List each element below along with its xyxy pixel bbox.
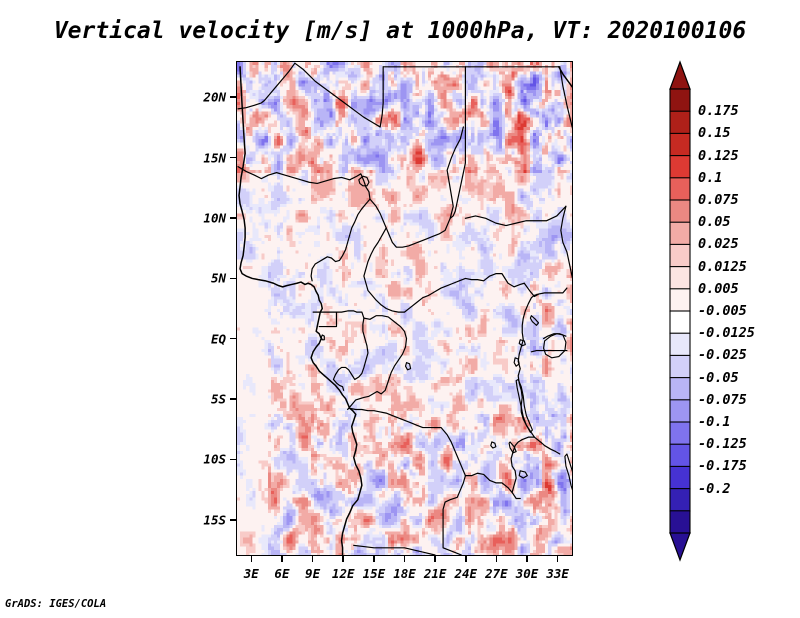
- x-axis-label: 24E: [454, 566, 477, 581]
- x-axis-label: 15E: [363, 566, 386, 581]
- colorbar-tick-label: -0.0125: [698, 325, 755, 341]
- x-axis-label: 21E: [424, 566, 447, 581]
- x-axis-label: 3E: [244, 566, 259, 581]
- x-axis-label: 27E: [485, 566, 508, 581]
- x-tick-mark: [526, 556, 528, 562]
- colorbar-tick-label: -0.05: [698, 370, 739, 386]
- colorbar-band: [670, 89, 690, 112]
- y-tick-mark: [230, 157, 236, 159]
- x-tick-mark: [312, 556, 314, 562]
- x-axis-label: 9E: [305, 566, 320, 581]
- colorbar-band: [670, 133, 690, 156]
- x-tick-mark: [557, 556, 559, 562]
- page-title: Vertical velocity [m/s] at 1000hPa, VT: …: [0, 18, 800, 44]
- colorbar-tick-label: -0.125: [698, 436, 747, 452]
- x-tick-mark: [465, 556, 467, 562]
- vertical-velocity-field: [237, 62, 572, 555]
- y-tick-mark: [230, 96, 236, 98]
- x-axis-label: 18E: [393, 566, 416, 581]
- colorbar-band: [670, 422, 690, 445]
- colorbar-tick-label: 0.005: [698, 281, 739, 297]
- colorbar-band: [670, 289, 690, 312]
- colorbar-tick-label: -0.2: [698, 481, 731, 497]
- colorbar-tick-label: 0.0125: [698, 259, 747, 275]
- y-axis-label: 10S: [172, 452, 226, 467]
- colorbar-band: [670, 111, 690, 134]
- colorbar-band: [670, 489, 690, 512]
- x-tick-mark: [281, 556, 283, 562]
- colorbar-bottom-arrow: [670, 533, 690, 560]
- colorbar-band: [670, 178, 690, 201]
- colorbar-band: [670, 311, 690, 334]
- colorbar-tick-label: -0.005: [698, 303, 747, 319]
- colorbar-tick-label: 0.125: [698, 148, 739, 164]
- x-tick-mark: [434, 556, 436, 562]
- x-tick-mark: [404, 556, 406, 562]
- colorbar-tick-label: 0.15: [698, 125, 731, 141]
- y-tick-mark: [230, 338, 236, 340]
- map-svg: [237, 62, 572, 555]
- y-axis-label: 15S: [172, 512, 226, 527]
- colorbar-tick-label: -0.1: [698, 414, 731, 430]
- colorbar-tick-label: -0.175: [698, 458, 747, 474]
- y-tick-mark: [230, 217, 236, 219]
- colorbar-tick-label: 0.175: [698, 103, 739, 119]
- y-tick-mark: [230, 519, 236, 521]
- colorbar-band: [670, 267, 690, 290]
- x-axis-label: 12E: [332, 566, 355, 581]
- y-axis-label: EQ: [172, 331, 226, 346]
- grads-credit: GrADS: IGES/COLA: [5, 598, 106, 610]
- colorbar-band: [670, 333, 690, 356]
- colorbar-top-arrow: [670, 62, 690, 89]
- colorbar-tick-label: -0.075: [698, 392, 747, 408]
- colorbar-tick-label: 0.025: [698, 236, 739, 252]
- colorbar-band: [670, 156, 690, 179]
- x-tick-mark: [373, 556, 375, 562]
- colorbar-band: [670, 244, 690, 267]
- y-axis-label: 10N: [172, 210, 226, 225]
- x-axis-label: 30E: [516, 566, 539, 581]
- colorbar-band: [670, 400, 690, 423]
- colorbar-band: [670, 200, 690, 223]
- colorbar-tick-label: 0.05: [698, 214, 731, 230]
- colorbar-band: [670, 355, 690, 378]
- colorbar-tick-label: -0.025: [698, 347, 747, 363]
- colorbar-tick-label: 0.075: [698, 192, 739, 208]
- x-axis-label: 33E: [546, 566, 569, 581]
- map-plot-area: [236, 61, 573, 556]
- colorbar-band: [670, 444, 690, 467]
- colorbar-tick-label: 0.1: [698, 170, 722, 186]
- y-axis-label: 15N: [172, 150, 226, 165]
- y-axis-label: 5S: [172, 392, 226, 407]
- colorbar-swatches: [670, 62, 690, 560]
- y-tick-mark: [230, 278, 236, 280]
- x-tick-mark: [251, 556, 253, 562]
- colorbar-band: [670, 511, 690, 534]
- y-axis-label: 5N: [172, 271, 226, 286]
- colorbar-band: [670, 222, 690, 245]
- y-tick-mark: [230, 459, 236, 461]
- x-tick-mark: [496, 556, 498, 562]
- colorbar-band: [670, 466, 690, 489]
- colorbar-band: [670, 378, 690, 401]
- x-axis-label: 6E: [274, 566, 289, 581]
- colorbar: 0.1750.150.1250.10.0750.050.0250.01250.0…: [670, 62, 690, 560]
- x-tick-mark: [342, 556, 344, 562]
- y-axis-label: 20N: [172, 90, 226, 105]
- y-tick-mark: [230, 398, 236, 400]
